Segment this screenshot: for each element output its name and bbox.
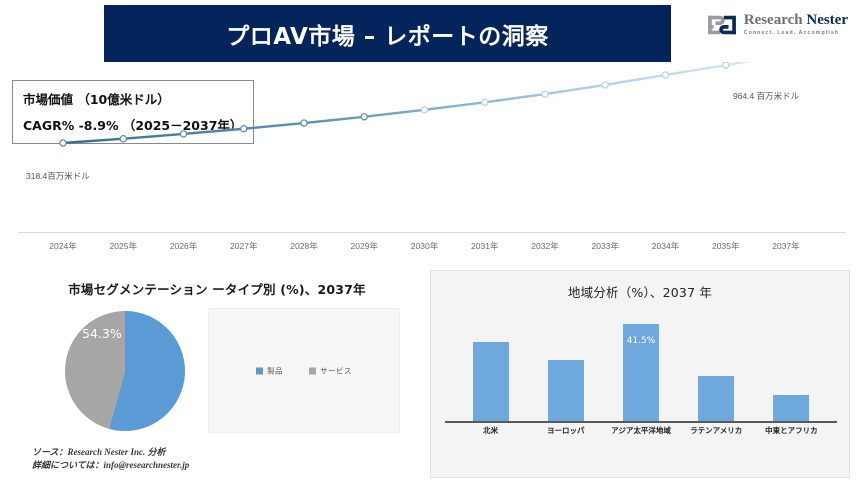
year-label-5: 2028年 (290, 240, 317, 252)
year-label-3: 2026年 (170, 240, 197, 252)
logo-wordmark: Research Nester (744, 13, 848, 28)
legend-label-service: サービス (320, 365, 352, 376)
bar-category-5: 中東とアフリカ (765, 425, 818, 436)
bar-chart-baseline (445, 421, 837, 423)
legend-item-service: サービス (309, 365, 352, 376)
year-label-13: 2037年 (772, 240, 799, 252)
regional-analysis-panel: 地域分析（%）、2037 年 41.5% 北米ヨーロッパアジア太平洋地域ラテンア… (430, 270, 850, 478)
bar-category-1: 北米 (483, 425, 498, 436)
segmentation-panel: 市場セグメンテーション ータイプ別 (%)、2037年 54.3% 製品 サービ… (14, 270, 420, 478)
bar-4 (698, 376, 734, 422)
pie-data-label: 54.3% (82, 326, 122, 341)
bar-category-4: ラテンアメリカ (690, 425, 742, 436)
source-line-1: ソース：Research Nester Inc. 分析 (32, 446, 189, 459)
source-note: ソース：Research Nester Inc. 分析 詳細については：info… (32, 446, 189, 472)
segmentation-pie-chart (60, 306, 190, 436)
line-end-value-label: 964.4 百万米ドル (733, 90, 799, 102)
line-chart-axis (18, 232, 846, 233)
year-label-9: 2032年 (531, 240, 558, 252)
year-label-10: 2033年 (592, 240, 619, 252)
year-label-8: 2031年 (471, 240, 498, 252)
year-label-7: 2030年 (411, 240, 438, 252)
year-label-12: 2035年 (712, 240, 739, 252)
report-infographic-page: プロAV市場 – レポートの洞察 Research Nester Connect… (0, 0, 862, 485)
segmentation-legend: 製品 サービス (208, 308, 400, 433)
legend-label-product: 製品 (267, 365, 283, 376)
legend-item-product: 製品 (256, 365, 283, 376)
year-label-1: 2024年 (49, 240, 76, 252)
legend-swatch-service-icon (309, 367, 316, 374)
regional-bar-chart: 41.5% (453, 309, 829, 421)
bar-3: 41.5% (623, 324, 659, 421)
bar-5 (773, 395, 809, 421)
regional-analysis-title: 地域分析（%）、2037 年 (431, 271, 849, 301)
year-label-11: 2034年 (652, 240, 679, 252)
page-title: プロAV市場 – レポートの洞察 (226, 17, 549, 51)
header-banner: プロAV市場 – レポートの洞察 (104, 5, 671, 62)
line-start-value-label: 318.4百万米ドル (26, 170, 90, 182)
year-label-6: 2029年 (351, 240, 378, 252)
bar-data-label: 41.5% (623, 336, 659, 346)
year-label-2: 2025年 (110, 240, 137, 252)
bar-1 (473, 342, 509, 421)
bar-chart-category-labels: 北米ヨーロッパアジア太平洋地域ラテンアメリカ中東とアフリカ (453, 425, 829, 441)
line-chart-year-labels: 2024年2025年2026年2027年2028年2029年2030年2031年… (0, 240, 862, 258)
source-line-2: 詳細については：info@researchnester.jp (32, 459, 189, 472)
chain-link-logo-icon (706, 12, 738, 38)
logo-tagline: Connect. Lead. Accomplish (744, 31, 848, 36)
segmentation-title: 市場セグメンテーション ータイプ別 (%)、2037年 (14, 270, 420, 298)
research-nester-logo: Research Nester Connect. Lead. Accomplis… (706, 12, 848, 38)
bar-category-2: ヨーロッパ (547, 425, 585, 436)
year-label-4: 2027年 (230, 240, 257, 252)
bar-category-3: アジア太平洋地域 (611, 425, 671, 436)
legend-swatch-product-icon (256, 367, 263, 374)
bar-2 (548, 360, 584, 421)
